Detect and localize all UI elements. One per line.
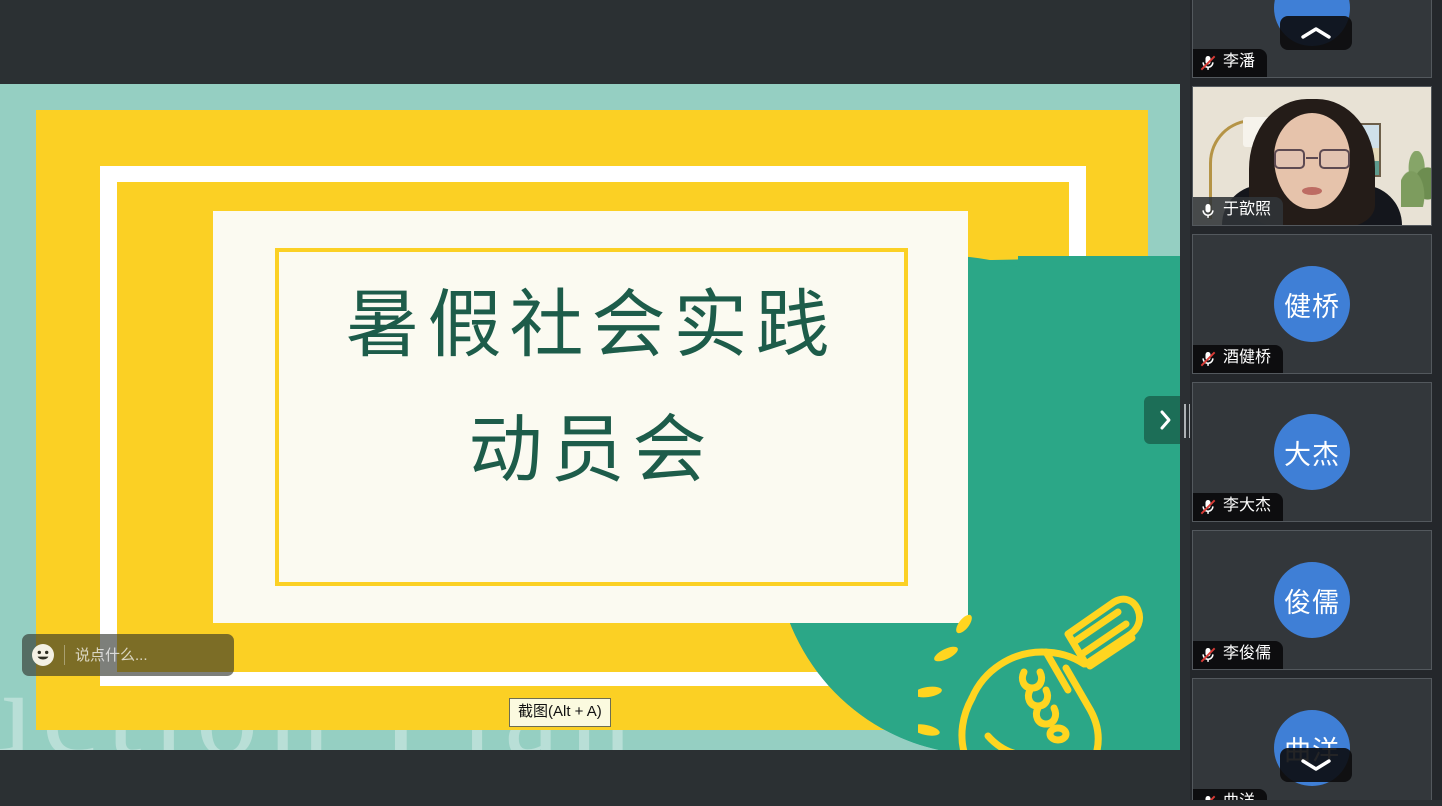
- chat-message-input[interactable]: [65, 634, 234, 676]
- letterbox-bottom: [0, 750, 1180, 800]
- participant-nameplate: 李潘: [1193, 49, 1267, 77]
- chevron-up-icon: [1299, 25, 1333, 41]
- scroll-up-button[interactable]: [1280, 16, 1352, 50]
- slide-title-line-1: 暑假社会实践: [275, 274, 908, 379]
- shared-screen-stage[interactable]: uction Plan 暑假社会实践 动员会: [0, 0, 1180, 800]
- slide-title: 暑假社会实践 动员会: [275, 274, 908, 504]
- webcam-plant: [1401, 151, 1431, 207]
- participant-nameplate: 李俊儒: [1193, 641, 1283, 669]
- participant-nameplate: 于歆照: [1193, 197, 1283, 225]
- screenshot-tooltip: 截图(Alt + A): [509, 698, 611, 727]
- mic-muted-icon: [1199, 646, 1217, 664]
- participant-nameplate: 酒健桥: [1193, 345, 1283, 373]
- participant-tile[interactable]: 俊儒 李俊儒: [1192, 530, 1432, 670]
- drag-handle-bar: [1184, 404, 1186, 438]
- mic-on-icon: [1199, 202, 1217, 220]
- mic-muted-icon: [1199, 498, 1217, 516]
- mic-muted-icon: [1199, 794, 1217, 800]
- letterbox-top: [0, 0, 1180, 84]
- participant-sidebar[interactable]: 李潘: [1190, 0, 1442, 800]
- avatar: 大杰: [1274, 414, 1350, 490]
- smiley-face-icon[interactable]: [22, 634, 64, 676]
- next-slide-button[interactable]: [1144, 396, 1180, 444]
- mic-muted-icon: [1199, 54, 1217, 72]
- participant-name: 李俊儒: [1223, 644, 1271, 665]
- scroll-down-button[interactable]: [1280, 748, 1352, 782]
- chevron-down-icon: [1299, 757, 1333, 773]
- chat-input-bar[interactable]: [22, 634, 234, 676]
- participant-name: 曲洋: [1223, 792, 1255, 800]
- avatar: 健桥: [1274, 266, 1350, 342]
- webcam-person-glasses: [1273, 149, 1351, 169]
- participant-tile[interactable]: 健桥 酒健桥: [1192, 234, 1432, 374]
- meeting-window: uction Plan 暑假社会实践 动员会: [0, 0, 1442, 806]
- avatar: 俊儒: [1274, 562, 1350, 638]
- slide-title-line-2: 动员会: [275, 399, 908, 504]
- participant-tile[interactable]: 于歆照: [1192, 86, 1432, 226]
- participant-nameplate: 曲洋: [1193, 789, 1267, 800]
- mic-muted-icon: [1199, 350, 1217, 368]
- participant-tile[interactable]: 大杰 李大杰: [1192, 382, 1432, 522]
- participant-nameplate: 李大杰: [1193, 493, 1283, 521]
- participant-name: 李潘: [1223, 52, 1255, 73]
- participant-name: 于歆照: [1223, 200, 1271, 221]
- webcam-person-mouth: [1302, 187, 1322, 195]
- participant-name: 酒健桥: [1223, 348, 1271, 369]
- participant-name: 李大杰: [1223, 496, 1271, 517]
